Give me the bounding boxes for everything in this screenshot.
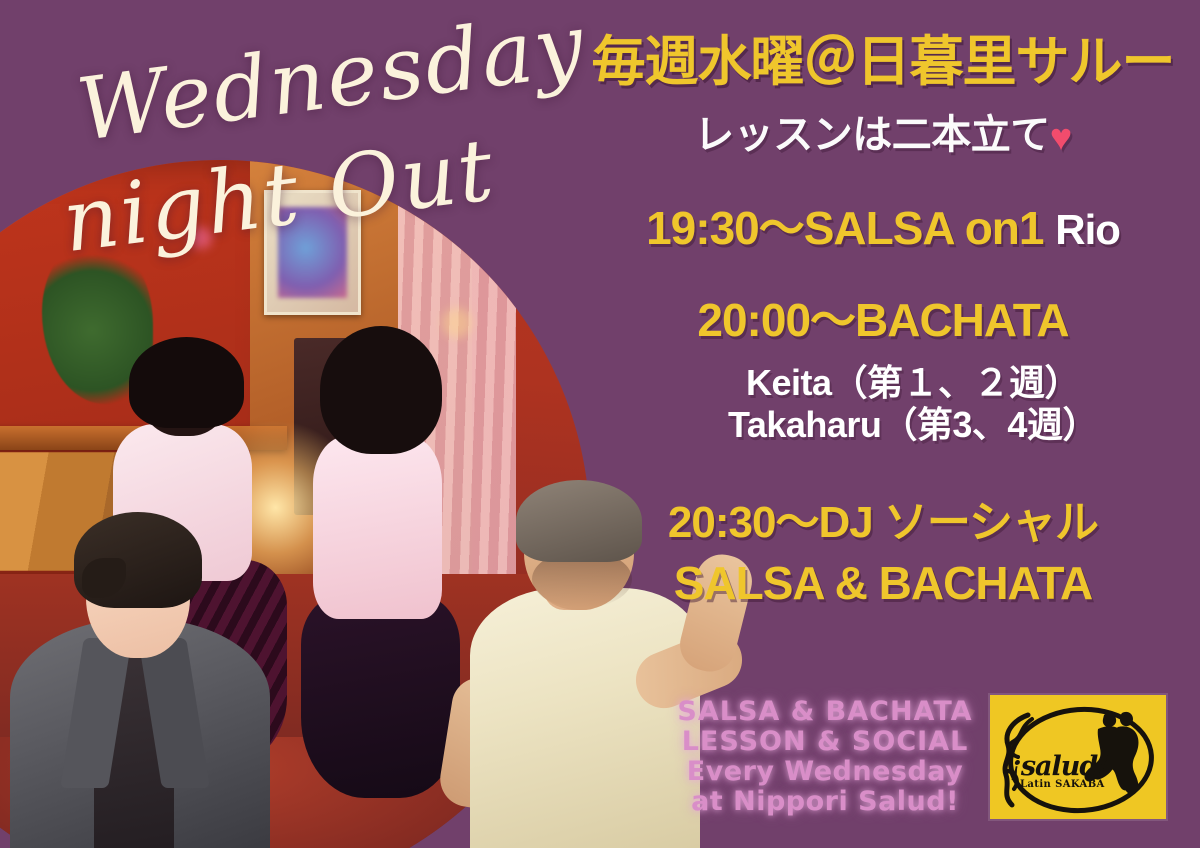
flyer-poster: Wednesday night Out 毎週水曜＠日暮里サルー レッスンは二本立… (0, 0, 1200, 848)
footer-summary: SALSA & BACHATA LESSON & SOCIAL Every We… (672, 697, 978, 818)
schedule-genres-social: SALSA & BACHATA (580, 556, 1186, 610)
dancer-hair (129, 337, 244, 428)
hair (74, 512, 202, 608)
footer-row: SALSA & BACHATA LESSON & SOCIAL Every We… (672, 682, 1188, 832)
subheadline-text: レッスンは二本立て (694, 113, 1050, 157)
schedule-time-social: 20:30〜DJ ソーシャル (580, 486, 1186, 550)
teacher-row-1: Keita（第１、２週） (640, 362, 1186, 404)
subheadline-lessons: レッスンは二本立て♥ (580, 113, 1186, 160)
logo-wordmark: ¡salud! (1010, 751, 1108, 782)
footer-line-1: SALSA & BACHATA (672, 697, 978, 727)
schedule-row-salsa: 19:30〜SALSA on1 Rio (580, 192, 1186, 258)
schedule-teachers-bachata: Keita（第１、２週） Takaharu（第3、4週） (580, 362, 1186, 446)
portrait-instructor-left (10, 480, 270, 848)
footer-line-3: Every Wednesday (672, 757, 978, 787)
schedule-time-bachata: 20:00〜BACHATA (580, 284, 1186, 350)
bokeh-light (190, 227, 212, 249)
logo-subtitle: Latin SAKABA (1020, 779, 1105, 790)
footer-line-4: at Nippori Salud! (672, 787, 978, 817)
schedule-time-salsa: 19:30〜SALSA on1 (646, 202, 1043, 254)
dancer-hair (320, 326, 442, 454)
footer-line-2: LESSON & SOCIAL (672, 727, 978, 757)
teacher-row-2: Takaharu（第3、4週） (640, 404, 1186, 446)
headline-venue: 毎週水曜＠日暮里サルー (580, 34, 1186, 91)
framed-artwork (264, 190, 360, 316)
title-line-1: Wednesday (72, 0, 591, 161)
salud-logo: ¡salud! Latin SAKABA (990, 695, 1166, 819)
heart-icon: ♥ (1050, 117, 1072, 159)
schedule-instructor-salsa: Rio (1055, 206, 1120, 253)
